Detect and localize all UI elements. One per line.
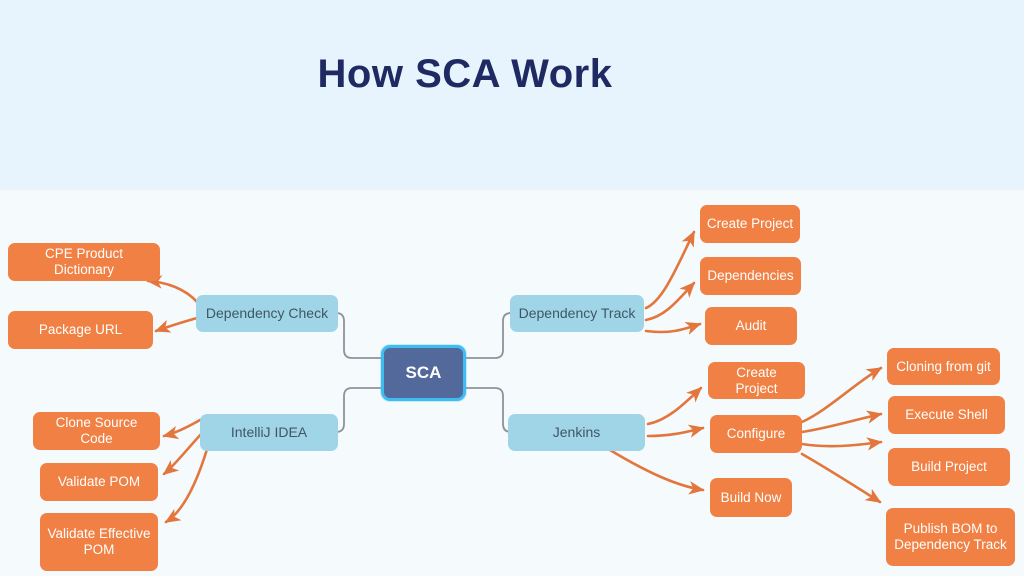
branch-node-dependency-check[interactable]: Dependency Check <box>196 295 338 332</box>
leaf-label: Clone Source Code <box>39 415 154 446</box>
leaf-node-dt-create-project[interactable]: Create Project <box>700 205 800 243</box>
branch-node-jenkins[interactable]: Jenkins <box>508 414 645 451</box>
leaf-label: Validate POM <box>46 474 152 490</box>
leaf-node-cloning-from-git[interactable]: Cloning from git <box>887 348 1000 385</box>
branch-node-dependency-track[interactable]: Dependency Track <box>510 295 644 332</box>
leaf-label: Cloning from git <box>893 359 994 375</box>
leaf-label: Dependencies <box>706 268 795 284</box>
page-title: How SCA Work <box>0 52 930 97</box>
leaf-node-jenkins-configure[interactable]: Configure <box>710 415 802 453</box>
leaf-node-execute-shell[interactable]: Execute Shell <box>888 396 1005 434</box>
center-node-label: SCA <box>384 363 463 383</box>
leaf-label: Validate Effective POM <box>46 526 152 557</box>
leaf-label: Publish BOM to Dependency Track <box>892 521 1009 552</box>
leaf-label: Build Now <box>716 490 786 506</box>
leaf-label: Configure <box>716 426 796 442</box>
leaf-label: Execute Shell <box>894 407 999 423</box>
branch-node-intellij-idea[interactable]: IntelliJ IDEA <box>200 414 338 451</box>
branch-label: Jenkins <box>514 424 639 440</box>
branch-label: IntelliJ IDEA <box>206 424 332 440</box>
center-node-sca[interactable]: SCA <box>381 345 466 401</box>
branch-label: Dependency Track <box>516 305 638 321</box>
leaf-label: Create Project <box>706 216 794 232</box>
branch-label: Dependency Check <box>202 305 332 321</box>
leaf-node-cpe-product-dictionary[interactable]: CPE Product Dictionary <box>8 243 160 281</box>
leaf-label: Build Project <box>894 459 1004 475</box>
leaf-label: Create Project <box>714 365 799 396</box>
leaf-node-jenkins-create-project[interactable]: Create Project <box>708 362 805 399</box>
slide-canvas: How SCA Work <box>0 0 1024 576</box>
leaf-node-publish-bom-to-dependency-track[interactable]: Publish BOM to Dependency Track <box>886 508 1015 566</box>
leaf-node-dt-audit[interactable]: Audit <box>705 307 797 345</box>
leaf-node-jenkins-build-now[interactable]: Build Now <box>710 478 792 517</box>
leaf-node-package-url[interactable]: Package URL <box>8 311 153 349</box>
leaf-node-clone-source-code[interactable]: Clone Source Code <box>33 412 160 450</box>
leaf-node-validate-effective-pom[interactable]: Validate Effective POM <box>40 513 158 571</box>
leaf-label: Package URL <box>14 322 147 338</box>
leaf-label: CPE Product Dictionary <box>14 246 154 277</box>
leaf-node-dt-dependencies[interactable]: Dependencies <box>700 257 801 295</box>
leaf-label: Audit <box>711 318 791 334</box>
leaf-node-validate-pom[interactable]: Validate POM <box>40 463 158 501</box>
leaf-node-build-project[interactable]: Build Project <box>888 448 1010 486</box>
